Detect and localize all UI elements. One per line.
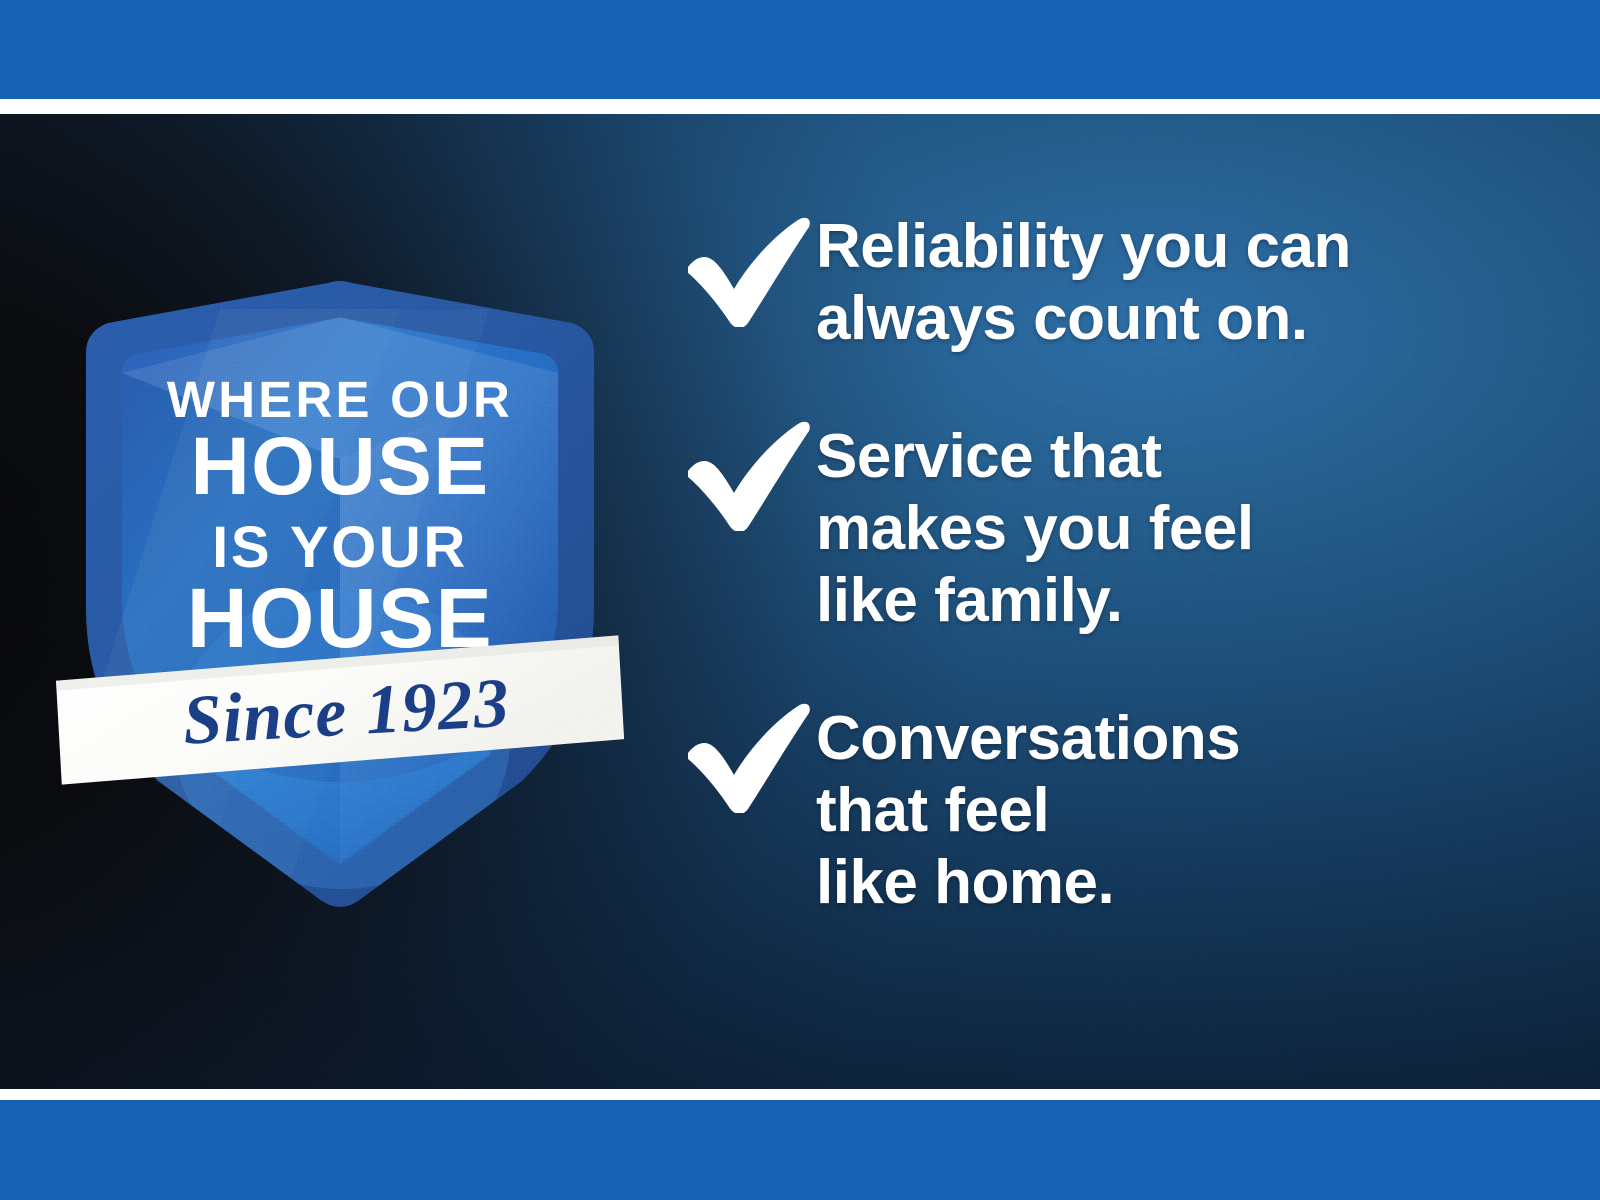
shield-badge: WHERE OUR HOUSE IS YOUR HOUSE Since 1923	[70, 269, 610, 909]
list-item: Conversations that feel like home.	[676, 695, 1476, 919]
checkmark-icon	[676, 419, 816, 531]
shield-headline-group: WHERE OUR HOUSE IS YOUR HOUSE	[167, 371, 513, 665]
main-stage: WHERE OUR HOUSE IS YOUR HOUSE Since 1923	[0, 114, 1600, 1089]
list-item: Reliability you can always count on.	[676, 209, 1476, 355]
checkmark-icon	[676, 701, 816, 813]
badge-line-2: HOUSE	[190, 421, 489, 512]
top-brand-band	[0, 0, 1600, 99]
badge-line-1: WHERE OUR	[167, 371, 513, 428]
list-item: Service that makes you feel like family.	[676, 413, 1476, 637]
benefits-list: Reliability you can always count on. Ser…	[676, 209, 1476, 919]
bottom-brand-band	[0, 1100, 1600, 1200]
promo-graphic-canvas: WHERE OUR HOUSE IS YOUR HOUSE Since 1923	[0, 0, 1600, 1200]
list-item-text: Conversations that feel like home.	[816, 703, 1476, 919]
list-item-text: Reliability you can always count on.	[816, 211, 1476, 355]
list-item-text: Service that makes you feel like family.	[816, 421, 1476, 637]
checkmark-icon	[676, 215, 816, 327]
